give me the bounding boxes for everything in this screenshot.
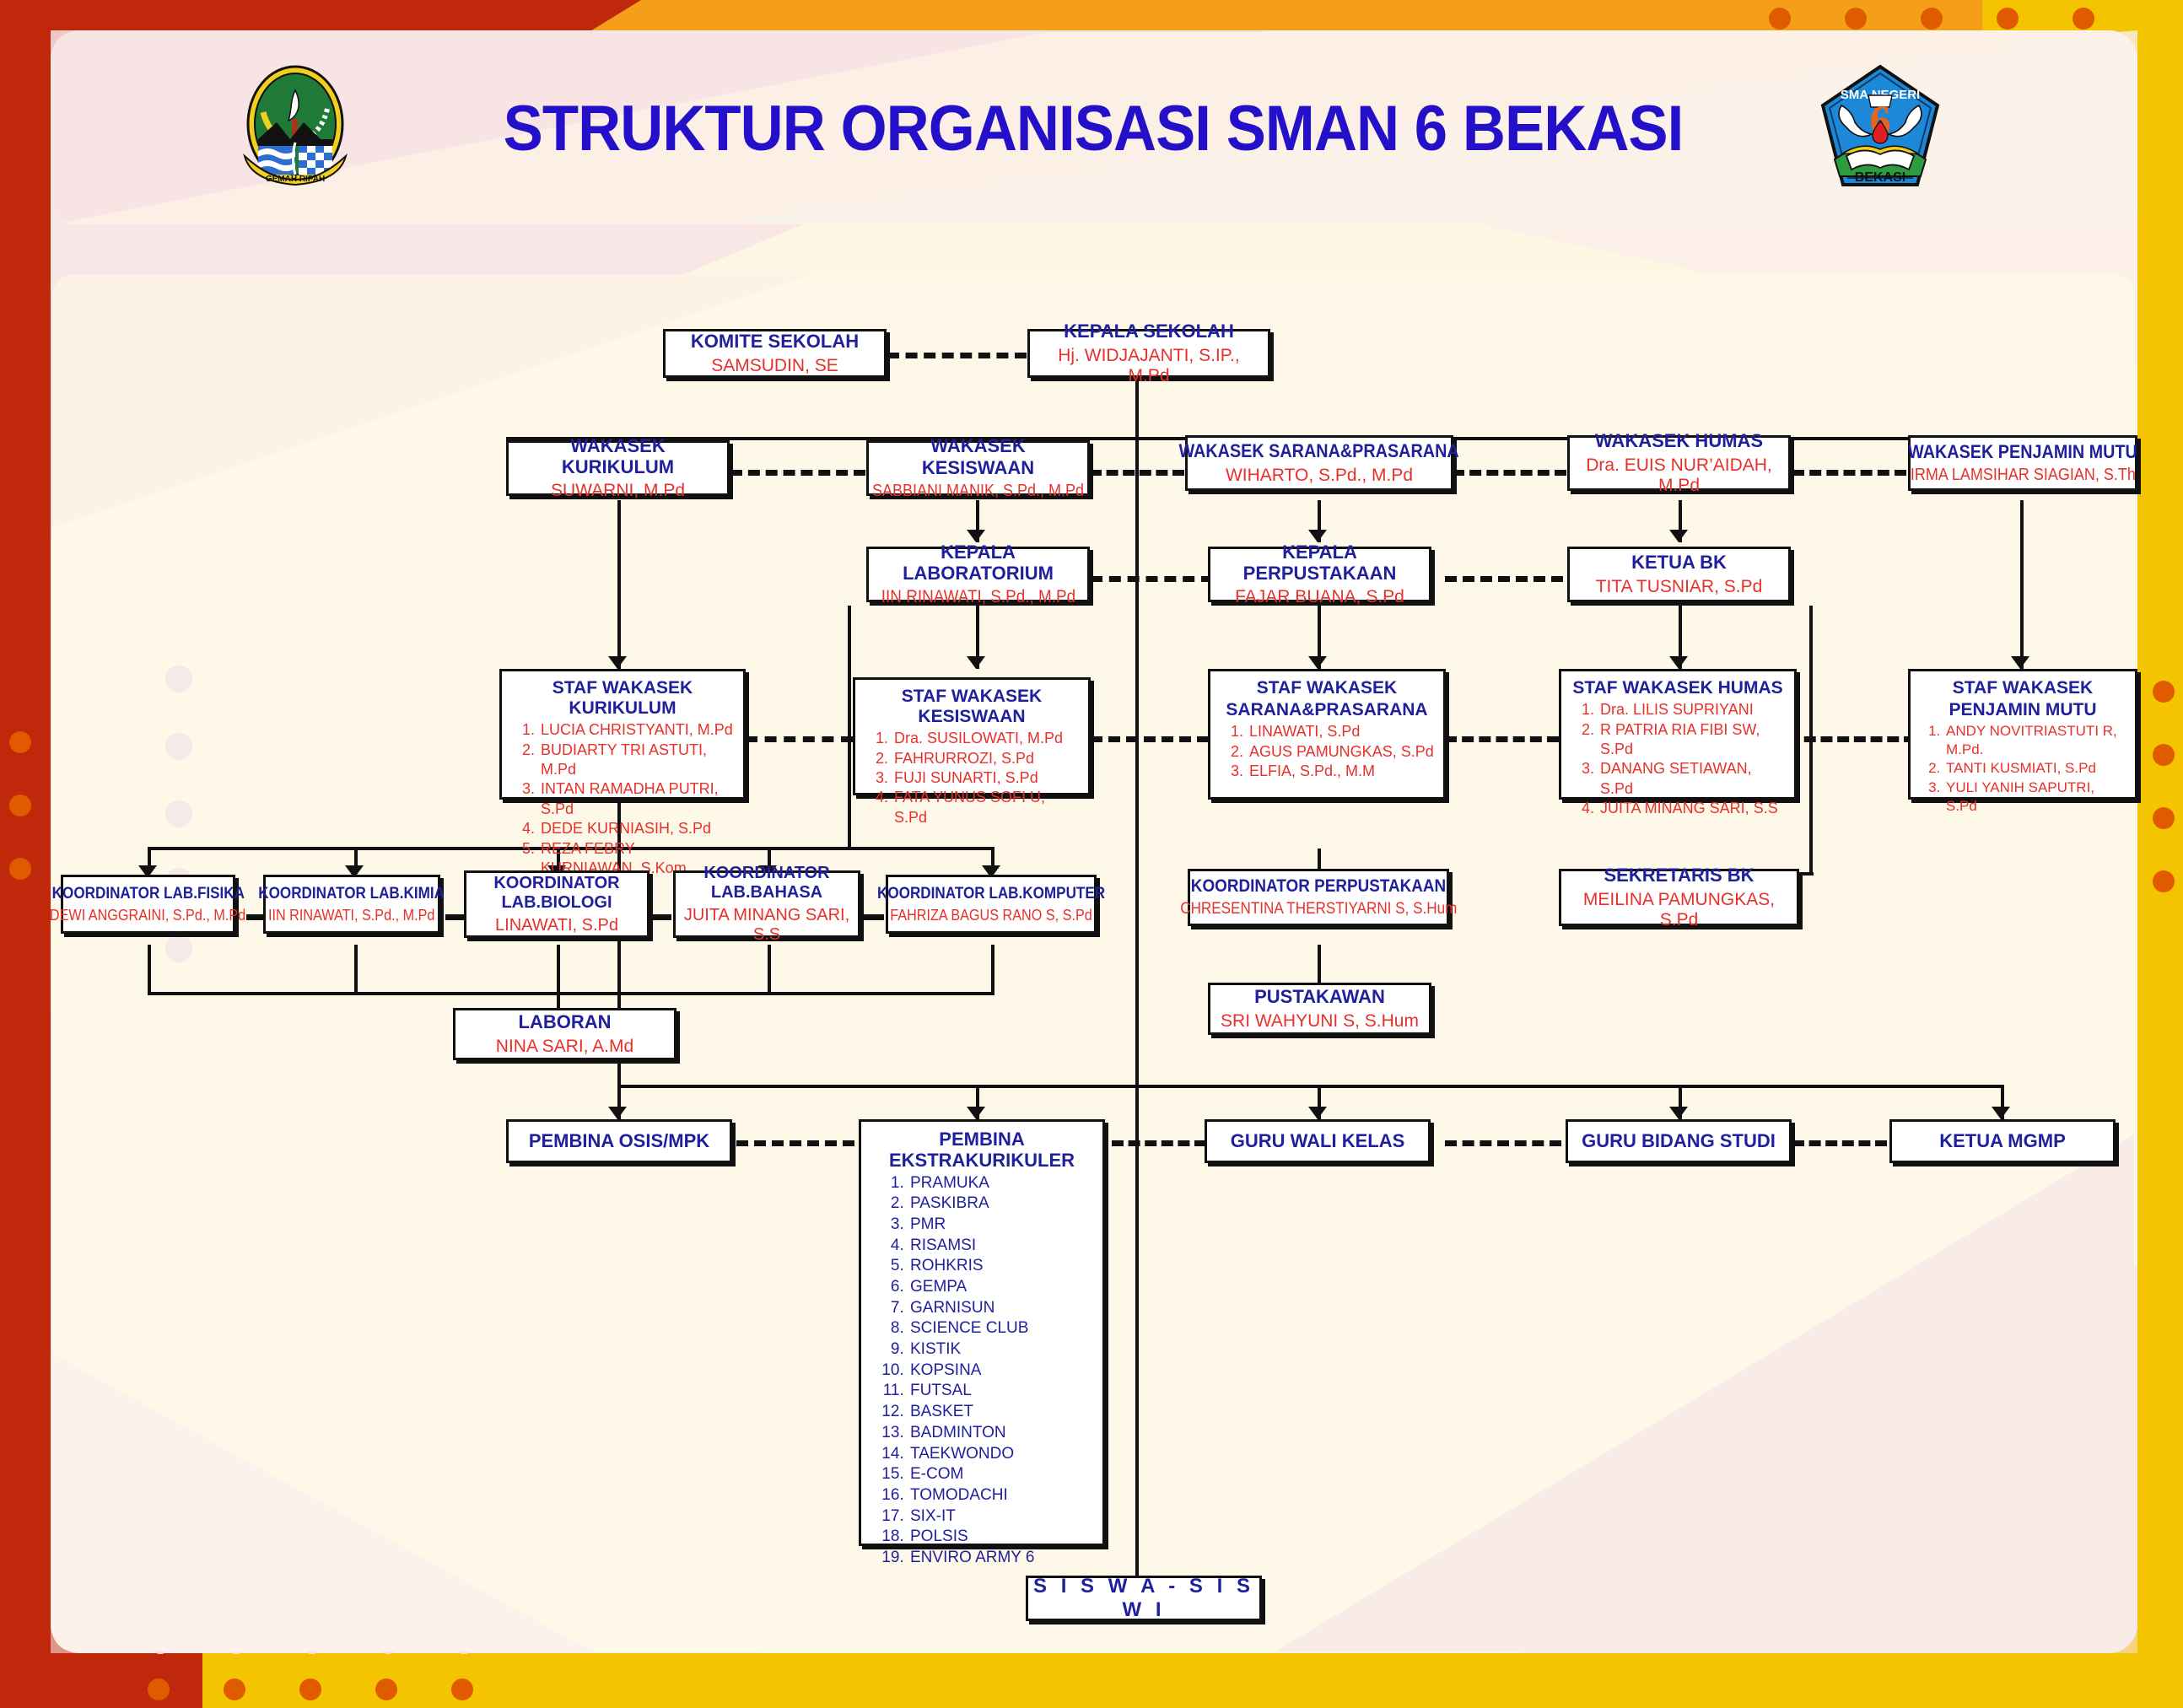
list-item: POLSIS: [908, 1527, 1094, 1548]
list-item: FUJI SUNARTI, S.Pd: [892, 768, 1080, 788]
staff-list: LINAWATI, S.PdAGUS PAMUNGKAS, S.PdELFIA,…: [1219, 722, 1435, 781]
node-koordinator-lab-komputer[interactable]: KOORDINATOR LAB.KOMPUTER FAHRIZA BAGUS R…: [886, 875, 1097, 934]
ekskul-list: PRAMUKAPASKIBRAPMRRISAMSIROHKRISGEMPAGAR…: [870, 1173, 1094, 1569]
arrow-staff-kurikulum: [608, 656, 627, 669]
node-title-line1: KOORDINATOR: [493, 874, 619, 893]
node-pembina-osis-mpk[interactable]: PEMBINA OSIS/MPK: [506, 1119, 732, 1163]
node-ketua-bk[interactable]: KETUA BK TITA TUSNIAR, S.Pd: [1567, 547, 1791, 602]
node-staf-wakasek-sarana-prasarana[interactable]: STAF WAKASEK SARANA&PRASARANA LINAWATI, …: [1208, 669, 1446, 800]
dashlink-perpus-bk: [1445, 576, 1563, 582]
node-title-line2: LAB.BIOLOGI: [501, 893, 612, 913]
node-title: SEKRETARIS BK: [1604, 865, 1754, 886]
node-person: NINA SARI, A.Md: [496, 1037, 633, 1057]
node-kepala-perpustakaan[interactable]: KEPALA PERPUSTAKAAN FAJAR BUANA, S.Pd: [1208, 547, 1431, 602]
node-guru-bidang-studi[interactable]: GURU BIDANG STUDI: [1566, 1119, 1792, 1163]
list-item: KOPSINA: [908, 1360, 1094, 1382]
node-title: STAF WAKASEK KURIKULUM: [510, 678, 735, 719]
list-item: Dra. LILIS SUPRIYANI: [1598, 700, 1786, 719]
node-staf-wakasek-kesiswaan[interactable]: STAF WAKASEK KESISWAAN Dra. SUSILOWATI, …: [853, 677, 1091, 795]
node-laboran[interactable]: LABORAN NINA SARI, A.Md: [453, 1008, 676, 1060]
node-title: STAF WAKASEK KESISWAAN: [864, 687, 1080, 727]
connector-penjamin-staff: [2020, 500, 2024, 669]
node-staf-wakasek-kurikulum[interactable]: STAF WAKASEK KURIKULUM LUCIA CHRISTYANTI…: [499, 669, 746, 800]
node-person: DEWI ANGGRAINI, S.Pd., M.Pd: [50, 907, 245, 924]
staff-list: Dra. SUSILOWATI, M.PdFAHRURROZI, S.PdFUJ…: [864, 729, 1080, 827]
list-item: BUDIARTY TRI ASTUTI, M.Pd: [539, 741, 735, 780]
list-item: BADMINTON: [908, 1423, 1094, 1444]
dashlink-kurikulum-kesiswaan: [730, 470, 865, 476]
node-person: FAJAR BUANA, S.Pd: [1235, 587, 1404, 607]
node-title: PEMBINA EKSTRAKURIKULER: [870, 1129, 1094, 1172]
node-title: WAKASEK KURIKULUM: [514, 435, 722, 478]
list-item: RISAMSI: [908, 1236, 1094, 1257]
arrow-mgmp: [1992, 1107, 2010, 1119]
node-title: WAKASEK KESISWAAN: [874, 435, 1082, 478]
staff-list: LUCIA CHRISTYANTI, M.PdBUDIARTY TRI ASTU…: [510, 720, 735, 878]
arrow-osis: [608, 1107, 627, 1119]
list-item: ELFIA, S.Pd., M.M: [1248, 762, 1435, 781]
node-title-line1: STAF WAKASEK: [1219, 678, 1435, 698]
list-item: GARNISUN: [908, 1298, 1094, 1319]
node-komite-sekolah[interactable]: KOMITE SEKOLAH SAMSUDIN, SE: [663, 329, 887, 378]
arrow-bk: [1669, 530, 1688, 542]
node-person: SUWARNI, M.Pd: [551, 481, 685, 501]
node-person: SRI WAHYUNI S, S.Hum: [1221, 1011, 1419, 1032]
list-item: LUCIA CHRISTYANTI, M.Pd: [539, 720, 735, 740]
node-pustakawan[interactable]: PUSTAKAWAN SRI WAHYUNI S, S.Hum: [1208, 983, 1431, 1035]
node-person: LINAWATI, S.Pd: [495, 916, 618, 935]
arrow-staff-sarpras: [1308, 656, 1327, 669]
page-title: STRUKTUR ORGANISASI SMAN 6 BEKASI: [504, 92, 1684, 165]
node-title: S I S W A - S I S W I: [1033, 1575, 1254, 1621]
node-staf-wakasek-penjamin-mutu[interactable]: STAF WAKASEK PENJAMIN MUTU ANDY NOVITRIA…: [1908, 669, 2137, 800]
arrow-wali: [1308, 1107, 1327, 1119]
arrow-staff-kesiswaan: [967, 656, 985, 669]
node-koordinator-lab-bahasa[interactable]: KOORDINATOR LAB.BAHASA JUITA MINANG SARI…: [673, 870, 860, 938]
dashlink-wali-bidang: [1445, 1140, 1561, 1146]
node-kepala-sekolah[interactable]: KEPALA SEKOLAH Hj. WIDJAJANTI, S.IP., M.…: [1027, 329, 1270, 378]
dashlink-bahasa-komputer: [860, 914, 884, 920]
node-title: KOORDINATOR LAB.KOMPUTER: [877, 885, 1105, 903]
node-person: SABBIANI MANIK, S.Pd., M.Pd: [872, 482, 1084, 501]
list-item: TOMODACHI: [908, 1485, 1094, 1506]
dashlink-staf-kes-sar: [1091, 736, 1209, 742]
node-title: KEPALA LABORATORIUM: [874, 541, 1082, 585]
connector-komputer-laboran: [991, 945, 994, 995]
list-item: R PATRIA RIA FIBI SW, S.Pd: [1598, 720, 1786, 760]
arrow-ekskul: [967, 1107, 985, 1119]
list-item: ROHKRIS: [908, 1256, 1094, 1277]
node-title: GURU BIDANG STUDI: [1582, 1130, 1776, 1151]
node-person: TITA TUSNIAR, S.Pd: [1596, 577, 1763, 597]
node-title: PEMBINA OSIS/MPK: [529, 1130, 709, 1151]
node-wakasek-humas[interactable]: WAKASEK HUMAS Dra. EUIS NUR’AIDAH, M.Pd: [1567, 435, 1791, 491]
node-title: KETUA MGMP: [1939, 1130, 2066, 1151]
node-title: STAF WAKASEK HUMAS: [1570, 678, 1786, 698]
dashlink-humas-penjamin: [1792, 470, 1906, 476]
node-person: JUITA MINANG SARI, S.S: [681, 906, 853, 945]
list-item: GEMPA: [908, 1277, 1094, 1298]
node-wakasek-sarana-prasarana[interactable]: WAKASEK SARANA&PRASARANA WIHARTO, S.Pd.,…: [1185, 435, 1453, 491]
node-title: KETUA BK: [1631, 552, 1727, 573]
node-person: IIN RINAWATI, S.Pd., M.Pd: [268, 907, 434, 924]
node-title-line1: KOORDINATOR: [703, 864, 829, 883]
node-sekretaris-bk[interactable]: SEKRETARIS BK MEILINA PAMUNGKAS, S.Pd: [1559, 869, 1799, 926]
node-koordinator-perpustakaan[interactable]: KOORDINATOR PERPUSTAKAAN CHRESENTINA THE…: [1188, 869, 1449, 926]
dashlink-ekskul-wali: [1112, 1140, 1206, 1146]
node-title: WAKASEK HUMAS: [1595, 430, 1763, 451]
list-item: LINAWATI, S.Pd: [1248, 722, 1435, 741]
node-title: LABORAN: [519, 1011, 612, 1032]
list-item: TAEKWONDO: [908, 1444, 1094, 1465]
node-title: KEPALA SEKOLAH: [1064, 321, 1234, 342]
connector-kimia-laboran: [354, 945, 358, 995]
node-ketua-mgmp[interactable]: KETUA MGMP: [1889, 1119, 2116, 1163]
dashlink-staf-sar-hum: [1445, 736, 1559, 742]
node-wakasek-kesiswaan[interactable]: WAKASEK KESISWAAN SABBIANI MANIK, S.Pd.,…: [866, 440, 1090, 496]
dashlink-bidang-mgmp: [1792, 1140, 1887, 1146]
dashlink-sarpras-humas: [1453, 470, 1566, 476]
node-siswa-siswi[interactable]: S I S W A - S I S W I: [1026, 1576, 1262, 1621]
node-person: WIHARTO, S.Pd., M.Pd: [1226, 466, 1413, 486]
node-wakasek-kurikulum[interactable]: WAKASEK KURIKULUM SUWARNI, M.Pd: [506, 440, 730, 496]
list-item: FUTSAL: [908, 1381, 1094, 1402]
list-item: ANDY NOVITRIASTUTI R, M.Pd.: [1944, 722, 2126, 759]
dashlink-kesiswaan-sarpras: [1090, 470, 1184, 476]
node-koordinator-lab-fisika[interactable]: KOORDINATOR LAB.FISIKA DEWI ANGGRAINI, S…: [61, 875, 235, 934]
staff-list: ANDY NOVITRIASTUTI R, M.Pd.TANTI KUSMIAT…: [1919, 722, 2126, 815]
dashlink-lab-perpus: [1091, 576, 1213, 582]
node-person: Dra. EUIS NUR’AIDAH, M.Pd: [1575, 455, 1783, 496]
node-guru-wali-kelas[interactable]: GURU WALI KELAS: [1205, 1119, 1431, 1163]
node-title: PUSTAKAWAN: [1254, 986, 1385, 1007]
arrow-staff-humas: [1669, 656, 1688, 669]
connector-biologi-laboran: [557, 945, 560, 995]
node-staf-wakasek-humas[interactable]: STAF WAKASEK HUMAS Dra. LILIS SUPRIYANIR…: [1559, 669, 1797, 800]
arrow-staff-penjamin: [2011, 656, 2029, 669]
list-item: SIX-IT: [908, 1506, 1094, 1528]
dashlink-biologi-bahasa: [648, 914, 671, 920]
list-item: FATA YUNUS SOFI U, S.Pd: [892, 788, 1080, 827]
node-person: IRMA LAMSIHAR SIAGIAN, S.Th: [1910, 466, 2135, 485]
node-title-line1: STAF WAKASEK: [1919, 678, 2126, 698]
arrow-bidang: [1669, 1107, 1688, 1119]
node-person: IIN RINAWATI, S.Pd., M.Pd: [881, 587, 1075, 607]
node-person: SAMSUDIN, SE: [711, 356, 838, 376]
dashlink-komite-kepala: [887, 353, 1027, 358]
node-title: KOORDINATOR PERPUSTAKAAN: [1191, 876, 1446, 897]
connector-bahasa-laboran: [768, 945, 771, 995]
node-title: KEPALA PERPUSTAKAAN: [1215, 541, 1424, 585]
dashlink-staf-kur-kes: [746, 736, 853, 742]
connector-main-spine: [1135, 378, 1139, 1618]
list-item: TANTI KUSMIATI, S.Pd: [1944, 759, 2126, 778]
node-wakasek-penjamin-mutu[interactable]: WAKASEK PENJAMIN MUTU IRMA LAMSIHAR SIAG…: [1908, 435, 2137, 491]
list-item: JUITA MINANG SARI, S.S: [1598, 799, 1786, 818]
list-item: INTAN RAMADHA PUTRI, S.Pd: [539, 779, 735, 819]
node-koordinator-lab-kimia[interactable]: KOORDINATOR LAB.KIMIA IIN RINAWATI, S.Pd…: [263, 875, 440, 934]
list-item: AGUS PAMUNGKAS, S.Pd: [1248, 742, 1435, 762]
list-item: DANANG SETIAWAN, S.Pd: [1598, 759, 1786, 799]
node-koordinator-lab-biologi[interactable]: KOORDINATOR LAB.BIOLOGI LINAWATI, S.Pd: [464, 870, 650, 938]
node-person: FAHRIZA BAGUS RANO S, S.Pd: [890, 907, 1091, 924]
list-item: YULI YANIH SAPUTRI, S.Pd: [1944, 779, 2126, 816]
connector-lab-left-drop: [848, 606, 851, 850]
node-title: WAKASEK PENJAMIN MUTU: [1908, 441, 2137, 462]
node-person: Hj. WIDJAJANTI, S.IP., M.Pd: [1035, 346, 1263, 386]
node-kepala-laboratorium[interactable]: KEPALA LABORATORIUM IIN RINAWATI, S.Pd.,…: [866, 547, 1090, 602]
list-item: DEDE KURNIASIH, S.Pd: [539, 819, 735, 838]
node-title: WAKASEK SARANA&PRASARANA: [1179, 440, 1459, 461]
list-item: ENVIRO ARMY 6: [908, 1548, 1094, 1569]
list-item: Dra. SUSILOWATI, M.Pd: [892, 729, 1080, 748]
connector-laboran-bus: [148, 992, 991, 995]
list-item: SCIENCE CLUB: [908, 1318, 1094, 1339]
list-item: PASKIBRA: [908, 1193, 1094, 1215]
node-title: GURU WALI KELAS: [1231, 1130, 1405, 1151]
dashlink-staf-hum-pen: [1787, 736, 1916, 742]
node-title-line2: LAB.BAHASA: [711, 883, 822, 902]
list-item: PRAMUKA: [908, 1173, 1094, 1194]
node-title-line2: PENJAMIN MUTU: [1919, 700, 2126, 720]
list-item: BASKET: [908, 1402, 1094, 1423]
node-title-line2: SARANA&PRASARANA: [1219, 700, 1435, 720]
node-title: KOORDINATOR LAB.KIMIA: [259, 885, 445, 903]
staff-list: Dra. LILIS SUPRIYANIR PATRIA RIA FIBI SW…: [1570, 700, 1786, 818]
node-title: KOMITE SEKOLAH: [691, 331, 859, 352]
list-item: PMR: [908, 1215, 1094, 1236]
connector-kurikulum-staff: [617, 500, 621, 669]
list-item: E-COM: [908, 1464, 1094, 1485]
node-pembina-ekstrakurikuler[interactable]: PEMBINA EKSTRAKURIKULER PRAMUKAPASKIBRAP…: [859, 1119, 1105, 1546]
list-item: FAHRURROZI, S.Pd: [892, 749, 1080, 768]
dashlink-osis-ekskul: [736, 1140, 854, 1146]
list-item: KISTIK: [908, 1339, 1094, 1360]
node-title: KOORDINATOR LAB.FISIKA: [51, 885, 244, 903]
connector-bottom-bus: [617, 1085, 2001, 1088]
poster-header: GEMAH RIPAH STRUKTUR ORGANISASI SMAN 6 B…: [52, 32, 2134, 224]
node-person: MEILINA PAMUNGKAS, S.Pd: [1566, 890, 1792, 930]
connector-fisika-laboran: [148, 945, 151, 995]
node-person: CHRESENTINA THERSTIYARNI S, S.Hum: [1180, 900, 1457, 919]
